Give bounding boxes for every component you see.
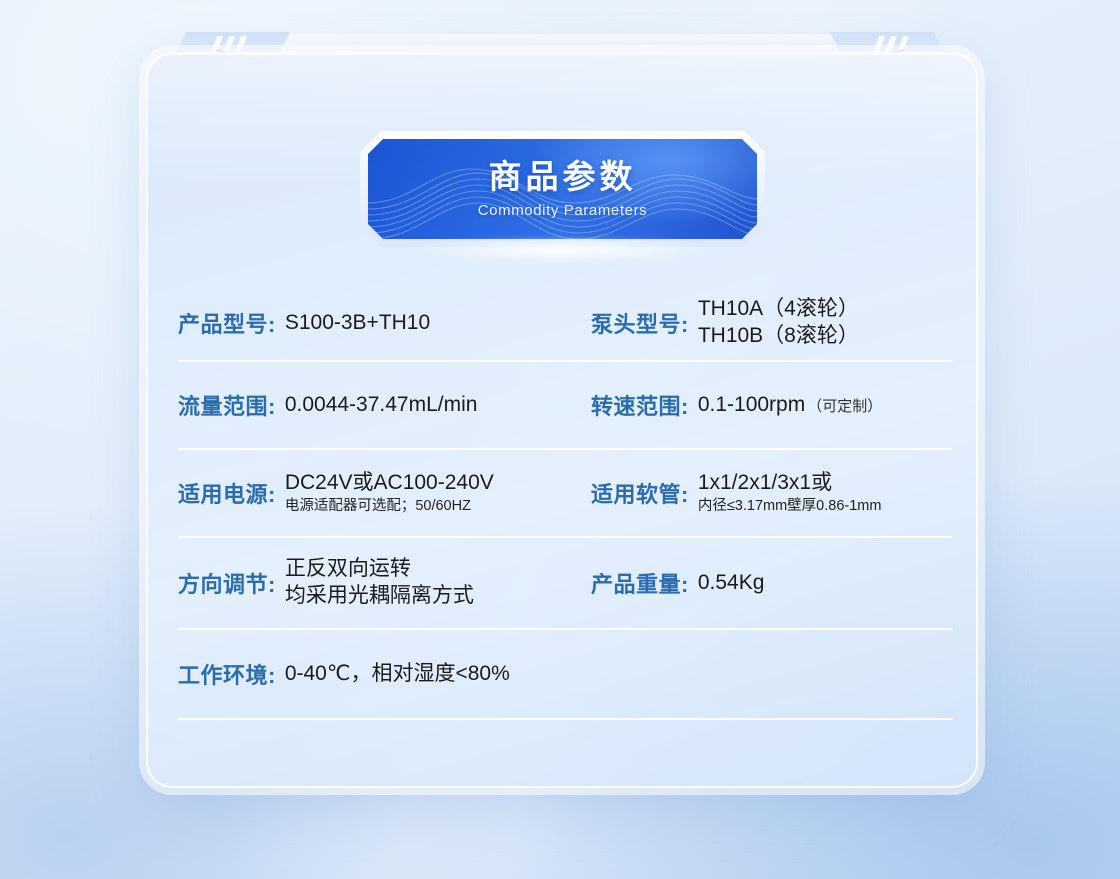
spec-value-line: TH10A（4滚轮） [698,296,859,323]
spec-label: 流量范围: [178,389,276,421]
spec-value-main: 1x1/2x1/3x1或 [698,470,882,497]
table-row: 方向调节: 正反双向运转 均采用光耦隔离方式 产品重量: 0.54Kg [178,538,953,630]
spec-cell-model: 产品型号: S100-3B+TH10 [178,301,591,345]
banner-inner: 商品参数 Commodity Parameters [368,139,757,239]
banner-glow [413,237,713,263]
spec-label: 转速范围: [591,389,689,421]
spec-value: 0.54Kg [698,570,765,597]
spec-cell-power-supply: 适用电源: DC24V或AC100-240V 电源适配器可选配；50/60HZ [178,470,591,516]
spec-label: 产品型号: [178,307,276,339]
spec-value-sub: 电源适配器可选配；50/60HZ [285,497,494,516]
spec-value: 0.1-100rpm（可定制） [698,392,882,419]
spec-value-line: TH10B（8滚轮） [698,323,859,350]
spec-value: 0-40℃，相对湿度<80% [285,661,510,688]
spec-cell-weight: 产品重量: 0.54Kg [591,561,953,605]
spec-value: 1x1/2x1/3x1或 内径≤3.17mm壁厚0.86-1mm [698,470,882,516]
table-row: 产品型号: S100-3B+TH10 泵头型号: TH10A（4滚轮） TH10… [178,286,953,362]
spec-cell-direction: 方向调节: 正反双向运转 均采用光耦隔离方式 [178,556,591,610]
spec-label: 方向调节: [178,567,276,599]
spec-cell-speed-range: 转速范围: 0.1-100rpm（可定制） [591,383,953,427]
banner-title-cn: 商品参数 [489,159,637,195]
spec-label: 适用软管: [591,477,689,509]
banner-title-en: Commodity Parameters [478,202,648,219]
spec-cell-pump-head: 泵头型号: TH10A（4滚轮） TH10B（8滚轮） [591,296,953,350]
spec-label: 产品重量: [591,567,689,599]
spec-label: 泵头型号: [591,307,689,339]
table-row: 适用电源: DC24V或AC100-240V 电源适配器可选配；50/60HZ … [178,450,953,538]
spec-label: 适用电源: [178,477,276,509]
spec-cell-hose: 适用软管: 1x1/2x1/3x1或 内径≤3.17mm壁厚0.86-1mm [591,470,953,516]
spec-cell-flow-range: 流量范围: 0.0044-37.47mL/min [178,383,591,427]
spec-value: S100-3B+TH10 [285,310,430,337]
spec-cell-environment: 工作环境: 0-40℃，相对湿度<80% [178,652,591,696]
spec-value-sub: 内径≤3.17mm壁厚0.86-1mm [698,497,882,516]
spec-value-main: DC24V或AC100-240V [285,470,494,497]
spec-value-main: 0.1-100rpm [698,393,805,416]
table-row: 工作环境: 0-40℃，相对湿度<80% [178,630,953,720]
table-row: 流量范围: 0.0044-37.47mL/min 转速范围: 0.1-100rp… [178,362,953,450]
spec-value: 0.0044-37.47mL/min [285,392,478,419]
spec-value: DC24V或AC100-240V 电源适配器可选配；50/60HZ [285,470,494,516]
spec-label: 工作环境: [178,658,276,690]
spec-value-line: 正反双向运转 [285,556,474,583]
spec-value: 正反双向运转 均采用光耦隔离方式 [285,556,474,610]
specification-table: 产品型号: S100-3B+TH10 泵头型号: TH10A（4滚轮） TH10… [178,286,953,720]
spec-value: TH10A（4滚轮） TH10B（8滚轮） [698,296,859,350]
spec-cell-empty [591,652,953,696]
section-banner: 商品参数 Commodity Parameters [360,131,765,247]
spec-value-note: （可定制） [807,398,882,415]
spec-value-line: 均采用光耦隔离方式 [285,583,474,610]
